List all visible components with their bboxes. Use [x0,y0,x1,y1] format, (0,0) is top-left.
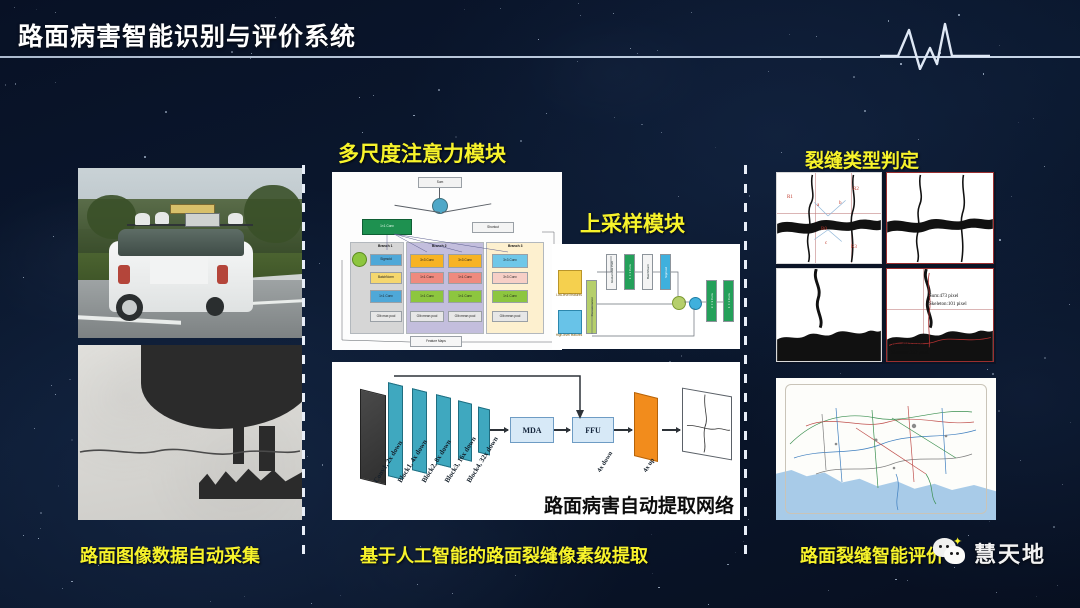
attn-branch-3-label: Branch 3 [508,244,523,248]
attn-edge [439,188,440,198]
attn-node-feature-maps: Feature Maps [410,336,462,347]
attn-node-sum: Sum [418,177,462,188]
heading-crack-type: 裂缝类型判定 [805,146,919,173]
crack-type-determination-grid: R1 R2 R3 R0 a b c [776,172,996,364]
rig-sensor [228,213,243,225]
crack-label-r0: R0 [821,227,827,232]
crack-label-c: c [825,241,827,246]
vehicle-wheel [206,297,224,316]
page-title: 路面病害智能识别与评价系统 [18,17,356,53]
measure-sum-2: Sum:4313 pixel [891,343,923,348]
attn-b2b-l4: Glb mean pool [448,311,482,322]
attn-b1-l3: 1×1 Conv [370,290,402,303]
crack-label-b: b [839,201,842,206]
road-network-map [776,378,996,520]
attn-b2b-l1: 3×3 Conv [448,254,482,268]
measure-sum-1: Sum:473 pixel [929,294,958,299]
attn-green-conv-block: 1×1 Conv [362,219,412,235]
attn-b3-l4: Glb mean pool [492,311,528,322]
crack-cell-binary-tr [886,172,994,264]
watermark-text: 慧天地 [974,537,1046,569]
pavement-distress-extraction-network: MDA FFU Conv1, 2x down Block1, 4x down B… [332,362,740,520]
attn-b1-l4: Glb max pool [370,311,402,322]
network-diagram-title: 路面病害自动提取网络 [544,491,734,518]
vehicle-wheel [116,294,143,321]
upsampling-module: Low-level features High-level features C… [552,244,740,349]
caption-evaluation: 路面裂缝智能评价 [800,542,944,568]
attn-b3-l3: 1×1 Conv [492,290,528,303]
heading-upsample-module: 上采样模块 [580,208,685,238]
attn-b3-l1: 3×3 Conv [492,254,528,268]
pavement-crack-line [78,345,302,520]
vehicle-taillight [217,265,228,284]
column-divider-2 [744,165,747,555]
attn-b2a-l1: 3×3 Conv [410,254,444,268]
upsample-connectors [552,244,740,349]
crack-cell-measured: Sum:473 pixel Skeleton:101 pixel Sum:431… [886,268,994,362]
caption-pixel-extraction: 基于人工智能的路面裂缝像素级提取 [360,542,648,568]
multi-scale-attention-module: Sum 1×1 Conv Shortcut Branch 1 Branch 2 … [332,172,562,350]
crack-label-a: a [817,203,819,208]
crack-label-r3: R3 [851,245,857,250]
wechat-bubble-small [944,546,965,564]
attn-b2b-l3: 1×1 Conv [448,290,482,303]
measure-skeleton-2: Skeleton:223 pixel [891,351,929,356]
rig-box [185,213,220,226]
attn-node-mul [352,252,367,267]
caption-data-collection: 路面图像数据自动采集 [80,542,260,568]
vehicle-plate [150,256,208,283]
ecg-waveform-icon [880,12,990,70]
attn-b1-l2: BatchNorm [370,272,402,284]
attn-b2a-l3: 1×1 Conv [410,290,444,303]
pavement-crack-photo [78,345,302,520]
wechat-watermark: ✦ 慧天地 [933,537,1046,569]
crack-label-r2: R2 [853,187,859,192]
attn-shortcut: Shortcut [472,222,514,233]
survey-vehicle-photo [78,168,302,338]
slide-header: 路面病害智能识别与评价系统 [0,0,1080,60]
slide-root: 路面病害智能识别与评价系统 多尺度注意力模块 上采样模块 裂缝类型判定 [0,0,1080,608]
vehicle-taillight [118,265,129,284]
rig-sensor [155,212,169,224]
attn-b3-l2: 3×3 Conv [492,272,528,284]
wechat-icon: ✦ [933,538,969,568]
attn-b2a-l4: Glb mean pool [410,311,444,322]
attn-b1-l1: Sigmoid [370,254,402,266]
attn-branch-2-label: Branch 2 [432,244,447,248]
attn-b2a-l2: 1×1 Conv [410,272,444,284]
vehicle-window [118,229,243,256]
attn-b2b-l2: 1×1 Conv [448,272,482,284]
rig-sensor [135,213,150,224]
crack-cell-annotated: R1 R2 R3 R0 a b c [776,172,882,264]
column-divider-1 [302,165,305,555]
attn-edge [442,203,491,213]
sparkle-icon: ✦ [953,537,962,548]
crack-cell-binary-bl [776,268,882,362]
map-frame [785,384,987,515]
crack-label-r1: R1 [787,195,793,200]
measure-skeleton-1: Skeleton:101 pixel [929,302,967,307]
attn-branch-1-label: Branch 1 [378,244,393,248]
heading-attention-module: 多尺度注意力模块 [338,138,506,168]
